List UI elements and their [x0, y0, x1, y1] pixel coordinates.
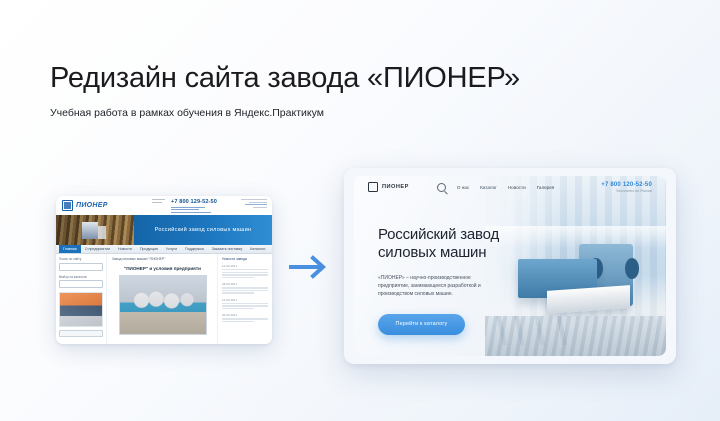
- old-breadcrumb: Завод силовых машин "ПИОНЕР": [112, 257, 213, 261]
- nav-item-gallery[interactable]: Галерея: [537, 185, 555, 190]
- old-nav-item-1[interactable]: О предприятии: [81, 245, 114, 253]
- new-site-hero: Российский завод силовых машин «ПИОНЕР» …: [378, 226, 528, 335]
- old-content-photo: [119, 275, 207, 335]
- new-site-header: ПИОНЕР О нас Каталог Новости Галерея +7 …: [354, 176, 666, 198]
- old-news-date: 15.03.2021: [222, 298, 268, 302]
- old-site-right-sidebar: Новости завода 12.04.2021 28.03.2021 15.…: [217, 254, 272, 344]
- old-site-header: ПИОНЕР +7 800 129-52-50: [56, 196, 272, 215]
- hero-title-line-2: силовых машин: [378, 244, 486, 261]
- old-nav-item-7[interactable]: Каталоги: [246, 245, 269, 253]
- new-site-hero-description: «ПИОНЕР» – научно-производственное предп…: [378, 274, 482, 298]
- old-search-label: Поиск по сайту: [59, 257, 103, 261]
- old-site-hero-photo: [56, 215, 134, 245]
- hero-photo-metal-slab: [547, 285, 630, 314]
- old-site-logo[interactable]: ПИОНЕР: [62, 200, 108, 211]
- old-site-main-content: Завод силовых машин "ПИОНЕР" "ПИОНЕР" и …: [107, 254, 217, 344]
- page-title: Редизайн сайта завода «ПИОНЕР»: [50, 62, 520, 95]
- old-nav-item-0[interactable]: Главная: [59, 245, 81, 253]
- old-news-date: 02.03.2021: [222, 313, 268, 317]
- comparison-row: ПИОНЕР +7 800 129-52-50: [0, 160, 720, 380]
- old-site-contact-block: +7 800 129-52-50: [152, 199, 217, 214]
- new-site-logo[interactable]: ПИОНЕР: [368, 182, 409, 192]
- old-news-item[interactable]: 15.03.2021: [222, 298, 268, 310]
- old-site-hero-banner: Российский завод силовых машин: [134, 215, 272, 245]
- arrow-right-icon: [289, 253, 331, 281]
- new-site-screenshot[interactable]: ПИОНЕР О нас Каталог Новости Галерея +7 …: [344, 168, 676, 364]
- search-icon[interactable]: [437, 183, 446, 192]
- page-subtitle: Учебная работа в рамках обучения в Яндек…: [50, 107, 520, 119]
- new-site-logo-text: ПИОНЕР: [382, 184, 409, 190]
- new-site-nav: О нас Каталог Новости Галерея: [437, 183, 554, 192]
- old-site-nav[interactable]: Главная О предприятии Новости Продукция …: [56, 245, 272, 254]
- new-site-phone-note: Бесплатно по России: [601, 189, 652, 193]
- old-nav-item-3[interactable]: Продукция: [136, 245, 162, 253]
- old-nav-item-6[interactable]: Заказать поставку: [208, 245, 247, 253]
- old-nav-item-8[interactable]: Файлы: [269, 245, 272, 253]
- old-content-heading: "ПИОНЕР" и условия предприяти: [112, 266, 213, 271]
- old-nav-item-2[interactable]: Новости: [114, 245, 136, 253]
- transition-arrow: [286, 250, 334, 284]
- go-to-catalog-button[interactable]: Перейти к каталогу: [378, 314, 465, 335]
- old-search-input[interactable]: [59, 263, 103, 271]
- old-news-item[interactable]: 02.03.2021: [222, 313, 268, 322]
- old-news-item[interactable]: 28.03.2021: [222, 282, 268, 294]
- old-catalog-label: Выбор из каталога: [59, 275, 103, 279]
- old-sidebar-catalog-button[interactable]: [59, 330, 103, 337]
- old-nav-item-5[interactable]: Поддержка: [181, 245, 208, 253]
- nav-item-news[interactable]: Новости: [508, 185, 526, 190]
- old-site-body: Поиск по сайту Выбор из каталога Завод с…: [56, 254, 272, 344]
- old-site-hero-banner-text: Российский завод силовых машин: [155, 227, 252, 233]
- new-site-contact-block: +7 800 120-52-50 Бесплатно по России: [601, 182, 652, 193]
- old-news-heading: Новости завода: [222, 257, 268, 261]
- nav-item-catalog[interactable]: Каталог: [480, 185, 497, 190]
- old-news-date: 12.04.2021: [222, 264, 268, 268]
- old-news-date: 28.03.2021: [222, 282, 268, 286]
- new-site-phone[interactable]: +7 800 120-52-50: [601, 182, 652, 188]
- old-site-contact-caption: [152, 199, 168, 204]
- new-site-hero-title: Российский завод силовых машин: [378, 226, 528, 263]
- old-site-logo-text: ПИОНЕР: [76, 202, 108, 209]
- old-site-corner-info: [241, 199, 267, 209]
- old-site-left-sidebar: Поиск по сайту Выбор из каталога: [56, 254, 107, 344]
- old-catalog-select[interactable]: [59, 280, 103, 288]
- old-site-phone[interactable]: +7 800 129-52-50: [171, 199, 217, 205]
- old-nav-item-4[interactable]: Услуги: [162, 245, 181, 253]
- old-site-hero: Российский завод силовых машин: [56, 215, 272, 245]
- pioneer-logo-icon: [368, 182, 378, 192]
- pioneer-logo-icon: [62, 200, 73, 211]
- hero-title-line-1: Российский завод: [378, 226, 499, 243]
- new-site-viewport: ПИОНЕР О нас Каталог Новости Галерея +7 …: [354, 176, 666, 356]
- old-sidebar-product-image[interactable]: [59, 292, 103, 327]
- old-site-header-links[interactable]: [171, 207, 217, 213]
- nav-item-about[interactable]: О нас: [457, 185, 469, 190]
- title-block: Редизайн сайта завода «ПИОНЕР» Учебная р…: [50, 62, 520, 119]
- old-news-item[interactable]: 12.04.2021: [222, 264, 268, 278]
- old-site-screenshot[interactable]: ПИОНЕР +7 800 129-52-50: [56, 196, 272, 344]
